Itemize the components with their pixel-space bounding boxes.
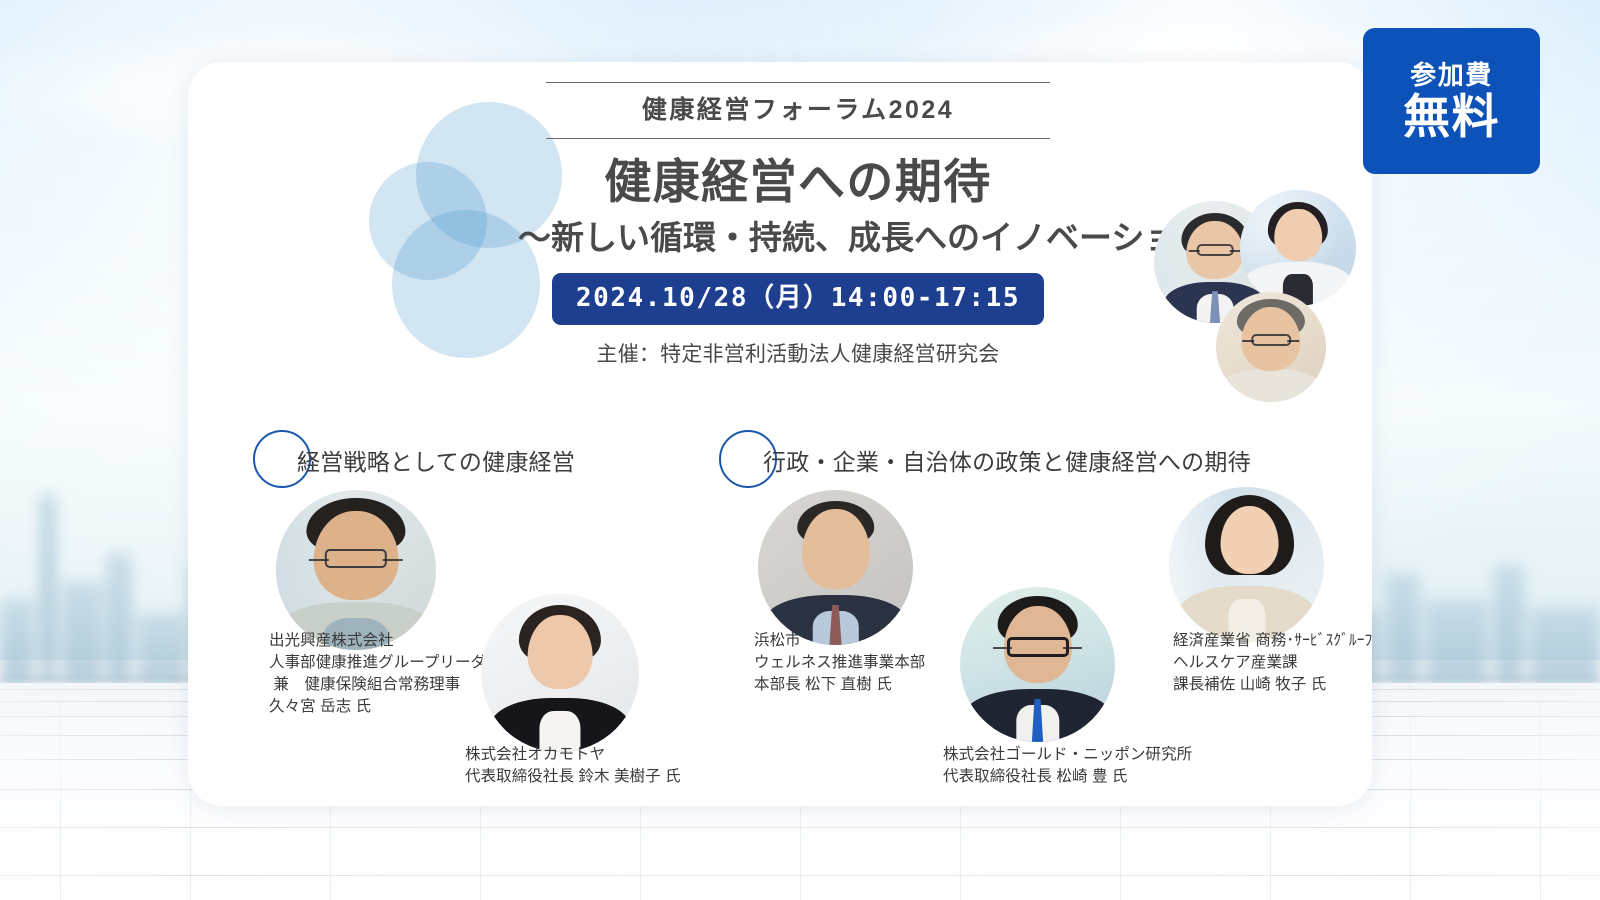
header-portrait-2 bbox=[1240, 190, 1356, 306]
speaker-photo-suzuki bbox=[481, 594, 639, 752]
event-date-badge: 2024.10/28（月）14:00-17:15 bbox=[552, 273, 1044, 325]
header-portrait-3 bbox=[1216, 292, 1326, 402]
event-kicker: 健康経営フォーラム2024 bbox=[518, 92, 1078, 130]
speaker-photo-matsuzaki bbox=[960, 587, 1115, 742]
page-subtitle: 〜新しい循環・持続、成長へのイノベーション〜 bbox=[518, 218, 1078, 258]
speaker-photo-yamazaki bbox=[1169, 487, 1324, 642]
session-label-2: 行政・企業・自治体の政策と健康経営への期待 bbox=[763, 443, 1251, 477]
event-organizer: 主催：特定非営利活動法人健康経営研究会 bbox=[518, 338, 1078, 368]
speaker-photo-matsushita bbox=[758, 490, 913, 645]
page-title: 健康経営への期待 bbox=[518, 155, 1078, 209]
fee-value: 無料 bbox=[1403, 92, 1500, 141]
speaker-caption-matsushita: 浜松市 ウェルネス推進事業本部 本部長 松下 直樹 氏 bbox=[754, 630, 925, 696]
header-text-block: 健康経営フォーラム2024 健康経営への期待 〜新しい循環・持続、成長へのイノベ… bbox=[518, 82, 1078, 368]
kicker-rules: 健康経営フォーラム2024 bbox=[518, 82, 1078, 139]
session-label-1: 経営戦略としての健康経営 bbox=[297, 443, 575, 477]
speaker-caption-yamazaki: 経済産業省 商務･ｻｰﾋﾞｽｸﾞﾙｰﾌﾟ ヘルスケア産業課 課長補佐 山崎 牧子… bbox=[1173, 630, 1372, 696]
poster-card: 健康経営フォーラム2024 健康経営への期待 〜新しい循環・持続、成長へのイノベ… bbox=[188, 62, 1372, 806]
participation-fee-badge: 参加費 無料 bbox=[1363, 28, 1540, 174]
speaker-caption-suzuki: 株式会社オカモトヤ 代表取締役社長 鈴木 美樹子 氏 bbox=[465, 744, 681, 788]
speaker-caption-matsuzaki: 株式会社ゴールド・ニッポン研究所 代表取締役社長 松崎 豊 氏 bbox=[943, 744, 1192, 788]
speaker-caption-kukunomiya: 出光興産株式会社 人事部健康推進グループリーダー 兼 健康保険組合常務理事 久々… bbox=[269, 630, 502, 718]
fee-label: 参加費 bbox=[1410, 61, 1493, 90]
speaker-photo-kukunomiya bbox=[276, 490, 436, 650]
